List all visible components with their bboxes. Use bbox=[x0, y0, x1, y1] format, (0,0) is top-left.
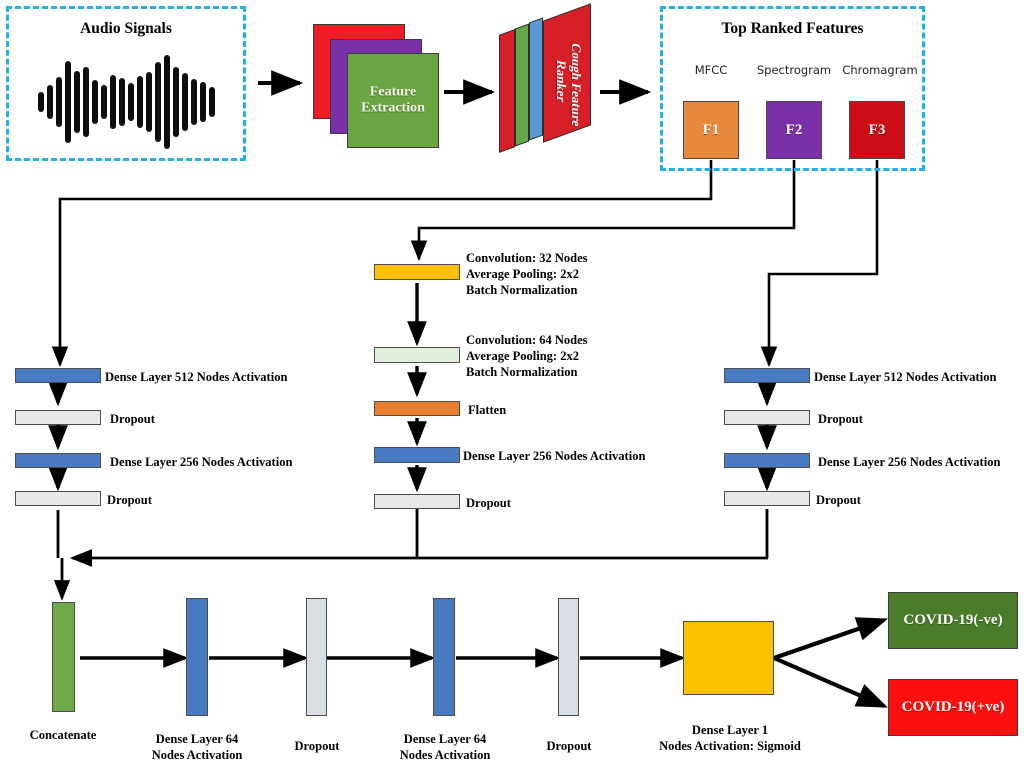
waveform-bar bbox=[47, 85, 53, 119]
right-dropout-1-label: Dropout bbox=[818, 411, 863, 427]
left-dropout-1-label: Dropout bbox=[110, 411, 155, 427]
left-dense-512-bar bbox=[15, 368, 101, 383]
left-dropout-2-label: Dropout bbox=[107, 492, 152, 508]
waveform-bar bbox=[164, 55, 170, 149]
middle-dropout-label: Dropout bbox=[466, 495, 511, 511]
right-dense-256-bar bbox=[724, 453, 810, 468]
waveform-bar bbox=[191, 79, 197, 125]
waveform-bar bbox=[74, 71, 80, 133]
ranker-slab-3 bbox=[529, 17, 543, 140]
dropout-a-bar bbox=[306, 598, 327, 716]
middle-conv32-bar bbox=[374, 264, 460, 280]
ranker-slab-1 bbox=[499, 29, 515, 153]
waveform-bar bbox=[155, 62, 161, 142]
cough-feature-ranker-label: Cough Feature Ranker bbox=[553, 24, 583, 141]
dropout-b-bar bbox=[558, 598, 579, 716]
middle-conv64-label: Convolution: 64 Nodes Average Pooling: 2… bbox=[466, 332, 588, 380]
right-dense-512-label: Dense Layer 512 Nodes Activation bbox=[814, 369, 996, 385]
feature-extraction-card-front: Feature Extraction bbox=[347, 53, 439, 148]
feature-name-chromagram: Chromagram bbox=[834, 63, 926, 77]
waveform-bar bbox=[92, 80, 98, 124]
dense-64-b-label: Dense Layer 64 Nodes Activation bbox=[380, 731, 510, 763]
feature-block-f1[interactable]: F1 bbox=[683, 101, 739, 159]
right-dropout-2-label: Dropout bbox=[816, 492, 861, 508]
dense-64-a-label: Dense Layer 64 Nodes Activation bbox=[132, 731, 262, 763]
concatenate-bar bbox=[52, 602, 75, 712]
dense-64-b-bar bbox=[433, 598, 455, 716]
dropout-a-label: Dropout bbox=[262, 738, 372, 754]
dropout-b-label: Dropout bbox=[514, 738, 624, 754]
output-covid-positive[interactable]: COVID-19(+ve) bbox=[888, 679, 1018, 736]
cough-feature-ranker: Cough Feature Ranker bbox=[495, 10, 605, 175]
right-dropout-2-bar bbox=[724, 491, 810, 506]
left-dense-256-label: Dense Layer 256 Nodes Activation bbox=[110, 454, 292, 470]
waveform-bar bbox=[146, 72, 152, 132]
middle-conv32-label: Convolution: 32 Nodes Average Pooling: 2… bbox=[466, 250, 588, 298]
middle-dense-256-bar bbox=[374, 447, 460, 463]
waveform-bar bbox=[128, 83, 134, 121]
waveform-bar bbox=[101, 85, 107, 119]
waveform-bar bbox=[200, 82, 206, 122]
ranker-slab-2 bbox=[515, 23, 529, 146]
middle-flatten-label: Flatten bbox=[468, 402, 506, 418]
waveform-bar bbox=[56, 77, 62, 127]
right-dense-512-bar bbox=[724, 368, 810, 383]
waveform-bar bbox=[119, 78, 125, 126]
feature-block-f2[interactable]: F2 bbox=[766, 101, 822, 159]
waveform-bar bbox=[38, 92, 44, 112]
architecture-diagram: Audio Signals Feature Extraction Cough F… bbox=[0, 0, 1024, 762]
feature-name-spectrogram: Spectrogram bbox=[748, 63, 840, 77]
audio-waveform-icon bbox=[22, 52, 230, 152]
left-dropout-2-bar bbox=[15, 491, 101, 506]
feature-extraction-label: Feature Extraction bbox=[348, 84, 438, 117]
waveform-bar bbox=[83, 67, 89, 137]
waveform-bar bbox=[137, 76, 143, 128]
left-dropout-1-bar bbox=[15, 410, 101, 425]
feature-name-mfcc: MFCC bbox=[672, 63, 750, 77]
concatenate-label: Concatenate bbox=[3, 727, 123, 743]
dense-64-a-bar bbox=[186, 598, 208, 716]
left-dense-256-bar bbox=[15, 453, 101, 468]
waveform-bar bbox=[182, 73, 188, 131]
middle-conv64-bar bbox=[374, 347, 460, 363]
waveform-bar bbox=[209, 87, 215, 117]
middle-flatten-bar bbox=[374, 401, 460, 416]
left-dense-512-label: Dense Layer 512 Nodes Activation bbox=[105, 369, 287, 385]
middle-dense-256-label: Dense Layer 256 Nodes Activation bbox=[463, 448, 645, 464]
waveform-bar bbox=[110, 75, 116, 129]
top-ranked-features-title: Top Ranked Features bbox=[660, 20, 925, 38]
output-covid-negative[interactable]: COVID-19(-ve) bbox=[888, 592, 1018, 649]
dense-1-sigmoid-label: Dense Layer 1 Nodes Activation: Sigmoid bbox=[640, 722, 820, 754]
dense-1-sigmoid-bar bbox=[683, 621, 774, 695]
feature-block-f3[interactable]: F3 bbox=[849, 101, 905, 159]
feature-extraction-stack: Feature Extraction bbox=[305, 20, 450, 155]
waveform-bar bbox=[65, 61, 71, 143]
right-dropout-1-bar bbox=[724, 410, 810, 425]
right-dense-256-label: Dense Layer 256 Nodes Activation bbox=[818, 454, 1000, 470]
waveform-bar bbox=[173, 67, 179, 137]
middle-dropout-bar bbox=[374, 494, 460, 509]
audio-signals-title: Audio Signals bbox=[6, 20, 246, 38]
